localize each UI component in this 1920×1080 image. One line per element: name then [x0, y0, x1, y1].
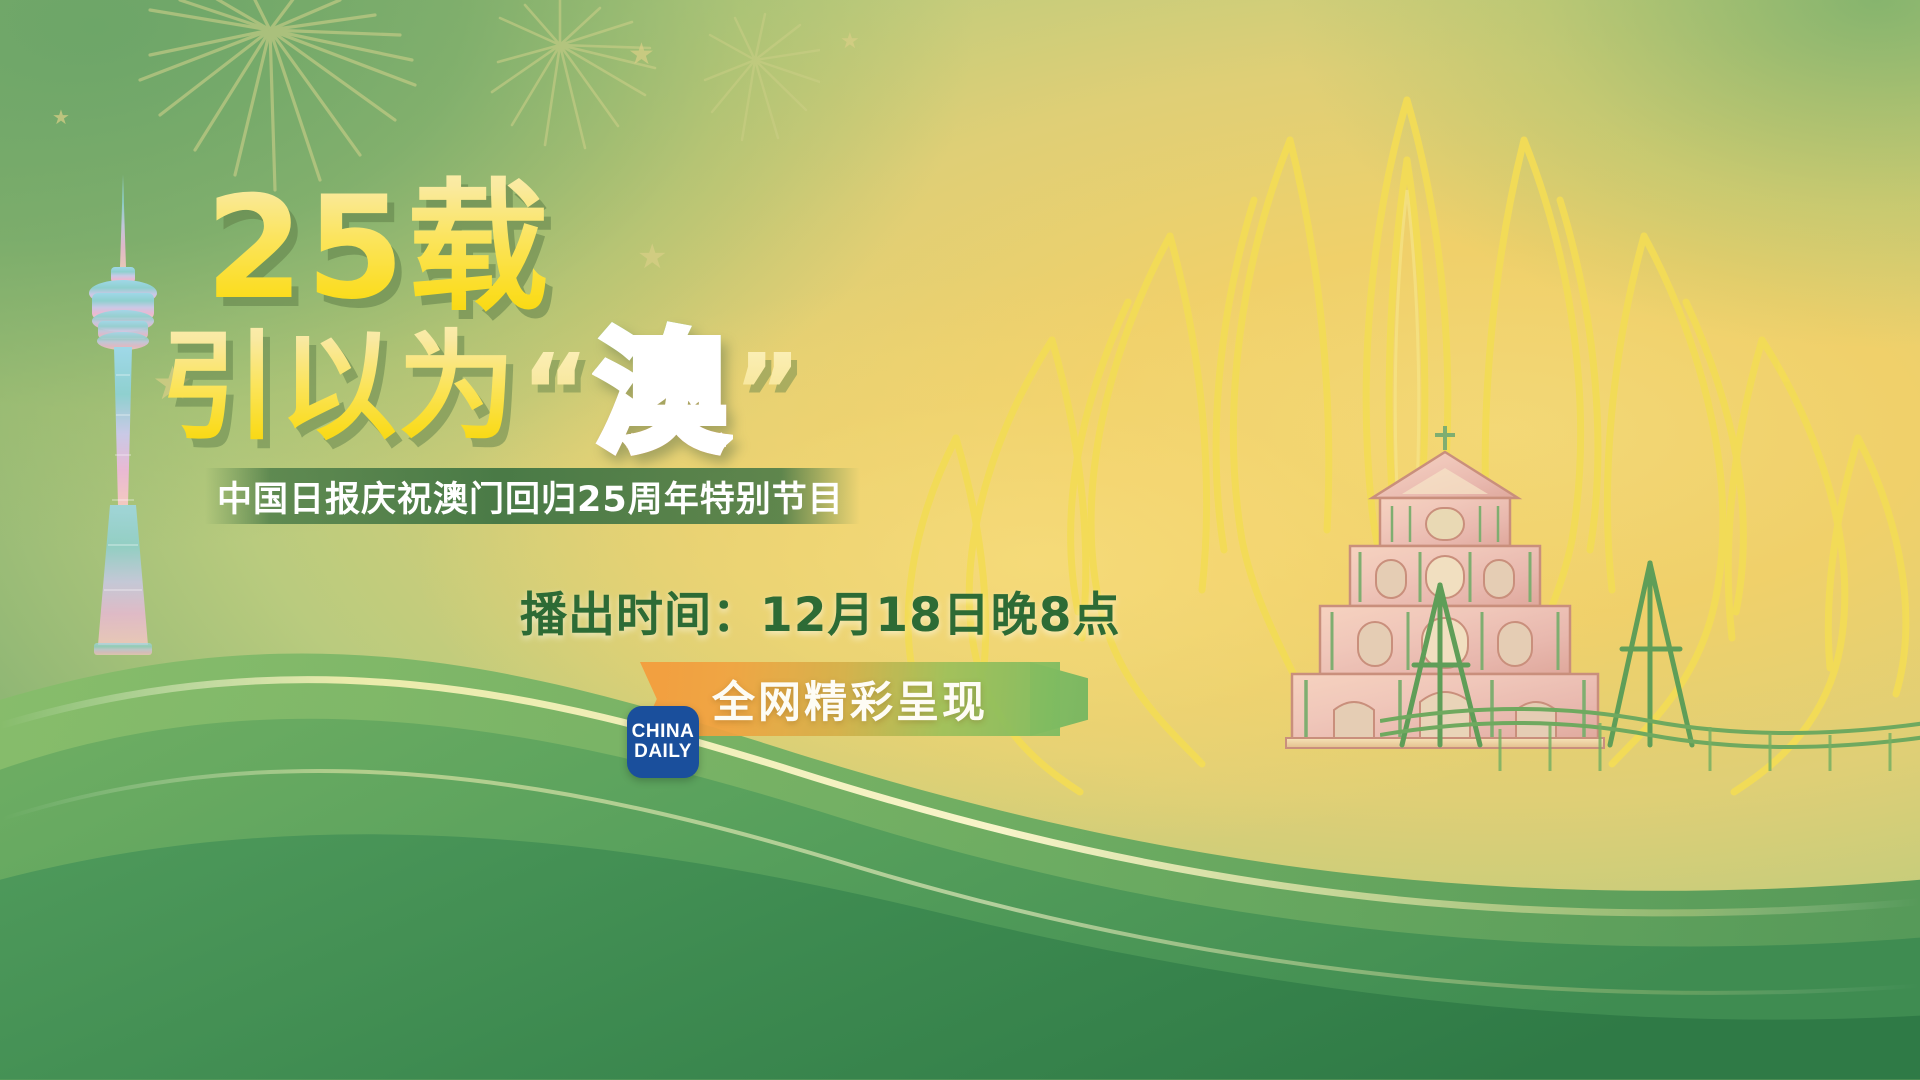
- promotional-banner: ★ ★ ★ ★ ★: [0, 0, 1920, 1080]
- headline-line-2: 引以为 “ 澳 ”: [160, 278, 807, 466]
- headline-highlight-ao: 澳: [596, 288, 727, 476]
- china-daily-logo[interactable]: CHINA DAILY: [627, 706, 699, 778]
- quote-close: ”: [729, 331, 806, 453]
- ribbon-banner: 全网精彩呈现: [640, 662, 1060, 736]
- ribbon-label: 全网精彩呈现: [712, 668, 988, 730]
- quote-open: “: [517, 331, 594, 453]
- banner-content: 25载 引以为 “ 澳 ” 中国日报庆祝澳门回归25周年特别节目 播出时间：12…: [0, 0, 1920, 1080]
- logo-line-1: CHINA: [632, 722, 695, 742]
- subtitle-band: 中国日报庆祝澳门回归25周年特别节目: [205, 468, 860, 524]
- subtitle-text: 中国日报庆祝澳门回归25周年特别节目: [217, 471, 844, 522]
- airtime-text: 播出时间：12月18日晚8点: [520, 576, 1121, 645]
- headline-prefix: 引以为: [160, 291, 517, 462]
- logo-line-2: DAILY: [634, 742, 692, 762]
